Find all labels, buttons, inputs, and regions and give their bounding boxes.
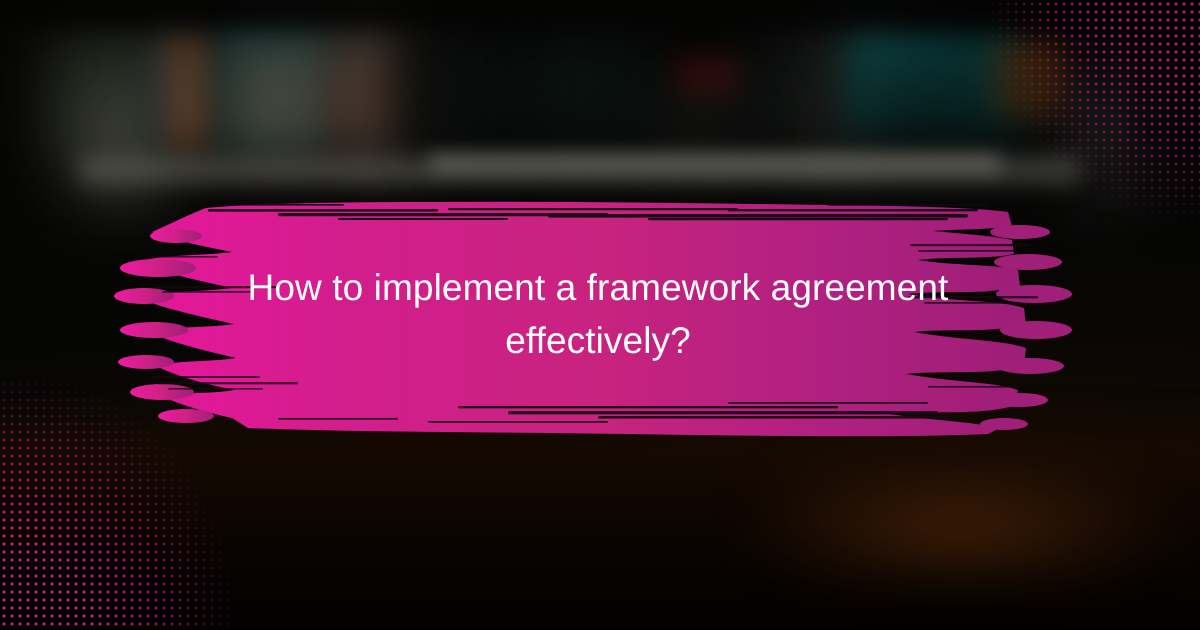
brush-stroke-banner [128, 190, 1048, 445]
share-card-canvas: How to implement a framework agreement e… [0, 0, 1200, 630]
brush-stroke-body [136, 202, 1026, 437]
brush-stroke-svg [128, 190, 1048, 445]
